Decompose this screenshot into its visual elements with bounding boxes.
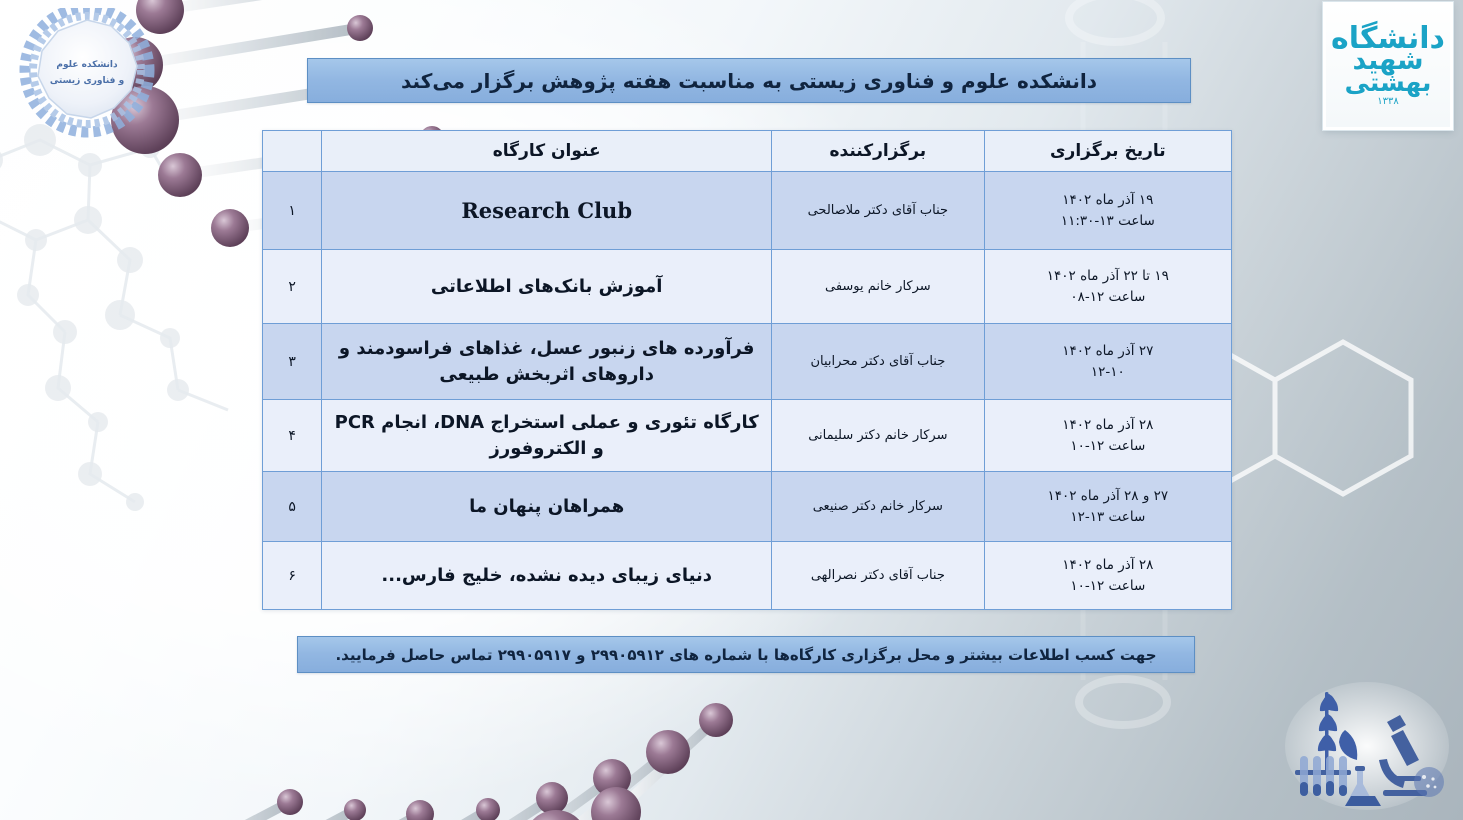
table-row: ۲۷ و ۲۸ آذر ماه ۱۴۰۲ساعت ۱۳-۱۲سرکار خانم…: [263, 472, 1232, 542]
contact-banner-text: جهت کسب اطلاعات بیشتر و محل برگزاری کارگ…: [335, 646, 1156, 664]
cell-row-number: ۵: [263, 472, 322, 542]
cell-organizer: سرکار خانم دکتر سلیمانی: [772, 400, 985, 472]
cell-row-number: ۲: [263, 250, 322, 324]
title-banner-text: دانشکده علوم و فناوری زیستی به مناسبت هف…: [401, 69, 1097, 93]
faculty-seal-line2: و فناوری زیستی: [50, 76, 124, 86]
column-header-organizer: برگزارکننده: [772, 131, 985, 172]
cell-date: ۱۹ آذر ماه ۱۴۰۲ساعت ۱۳-۱۱:۳۰: [984, 172, 1231, 250]
date-line-2: ساعت ۱۲-۰۸: [993, 287, 1223, 308]
cell-workshop-title: فرآورده های زنبور عسل، غذاهای فراسودمند …: [322, 324, 772, 400]
date-line-1: ۲۷ و ۲۸ آذر ماه ۱۴۰۲: [993, 486, 1223, 507]
cell-row-number: ۶: [263, 542, 322, 610]
date-line-1: ۲۸ آذر ماه ۱۴۰۲: [993, 415, 1223, 436]
cell-workshop-title: دنیای زیبای دیده نشده، خلیج فارس...: [322, 542, 772, 610]
cell-organizer: سرکار خانم یوسفی: [772, 250, 985, 324]
date-line-1: ۲۸ آذر ماه ۱۴۰۲: [993, 555, 1223, 576]
university-logo-year: ۱۳۳۸: [1377, 96, 1398, 107]
table-header: تاریخ برگزاری برگزارکننده عنوان کارگاه: [263, 131, 1232, 172]
cell-date: ۲۸ آذر ماه ۱۴۰۲ساعت ۱۲-۱۰: [984, 542, 1231, 610]
table-row: ۲۸ آذر ماه ۱۴۰۲ساعت ۱۲-۱۰جناب آقای دکتر …: [263, 542, 1232, 610]
cell-date: ۲۷ آذر ماه ۱۴۰۲۱۲-۱۰: [984, 324, 1231, 400]
cell-organizer: جناب آقای دکتر ملاصالحی: [772, 172, 985, 250]
date-line-1: ۲۷ آذر ماه ۱۴۰۲: [993, 341, 1223, 362]
cell-organizer: سرکار خانم دکتر صنیعی: [772, 472, 985, 542]
cell-workshop-title: کارگاه تئوری و عملی استخراج DNA، انجام P…: [322, 400, 772, 472]
table-header-row: تاریخ برگزاری برگزارکننده عنوان کارگاه: [263, 131, 1232, 172]
cell-workshop-title: Research Club: [322, 172, 772, 250]
poster-canvas: CH 3 H NH: [0, 0, 1463, 820]
title-banner: دانشکده علوم و فناوری زیستی به مناسبت هف…: [307, 58, 1191, 103]
cell-workshop-title: همراهان پنهان ما: [322, 472, 772, 542]
date-line-2: ۱۲-۱۰: [993, 362, 1223, 383]
cell-organizer: جناب آقای دکتر نصرالهی: [772, 542, 985, 610]
workshop-schedule-table: تاریخ برگزاری برگزارکننده عنوان کارگاه ۱…: [262, 130, 1232, 610]
cell-date: ۲۸ آذر ماه ۱۴۰۲ساعت ۱۲-۱۰: [984, 400, 1231, 472]
date-line-2: ساعت ۱۲-۱۰: [993, 436, 1223, 457]
table-body: ۱۹ آذر ماه ۱۴۰۲ساعت ۱۳-۱۱:۳۰جناب آقای دک…: [263, 172, 1232, 610]
faculty-seal: دانشکده علوم و فناوری زیستی: [12, 8, 162, 138]
cell-row-number: ۱: [263, 172, 322, 250]
cell-workshop-title: آموزش بانک‌های اطلاعاتی: [322, 250, 772, 324]
table-row: ۱۹ آذر ماه ۱۴۰۲ساعت ۱۳-۱۱:۳۰جناب آقای دک…: [263, 172, 1232, 250]
cell-organizer: جناب آقای دکتر محرابیان: [772, 324, 985, 400]
column-header-title: عنوان کارگاه: [322, 131, 772, 172]
date-line-2: ساعت ۱۳-۱۲: [993, 507, 1223, 528]
university-logo: دانشگاه شهید بهشتی ۱۳۳۸: [1323, 2, 1453, 130]
table-row: ۱۹ تا ۲۲ آذر ماه ۱۴۰۲ساعت ۱۲-۰۸سرکار خان…: [263, 250, 1232, 324]
date-line-2: ساعت ۱۳-۱۱:۳۰: [993, 211, 1223, 232]
column-header-number: [263, 131, 322, 172]
contact-banner: جهت کسب اطلاعات بیشتر و محل برگزاری کارگ…: [297, 636, 1195, 673]
date-line-2: ساعت ۱۲-۱۰: [993, 576, 1223, 597]
biotech-illustration: [1283, 678, 1451, 814]
cell-row-number: ۴: [263, 400, 322, 472]
cell-row-number: ۳: [263, 324, 322, 400]
date-line-1: ۱۹ تا ۲۲ آذر ماه ۱۴۰۲: [993, 266, 1223, 287]
cell-date: ۱۹ تا ۲۲ آذر ماه ۱۴۰۲ساعت ۱۲-۰۸: [984, 250, 1231, 324]
column-header-date: تاریخ برگزاری: [984, 131, 1231, 172]
faculty-seal-line1: دانشکده علوم: [56, 60, 117, 70]
table-row: ۲۸ آذر ماه ۱۴۰۲ساعت ۱۲-۱۰سرکار خانم دکتر…: [263, 400, 1232, 472]
table-row: ۲۷ آذر ماه ۱۴۰۲۱۲-۱۰جناب آقای دکتر محراب…: [263, 324, 1232, 400]
university-logo-line3: بهشتی: [1345, 71, 1432, 94]
cell-date: ۲۷ و ۲۸ آذر ماه ۱۴۰۲ساعت ۱۳-۱۲: [984, 472, 1231, 542]
date-line-1: ۱۹ آذر ماه ۱۴۰۲: [993, 190, 1223, 211]
